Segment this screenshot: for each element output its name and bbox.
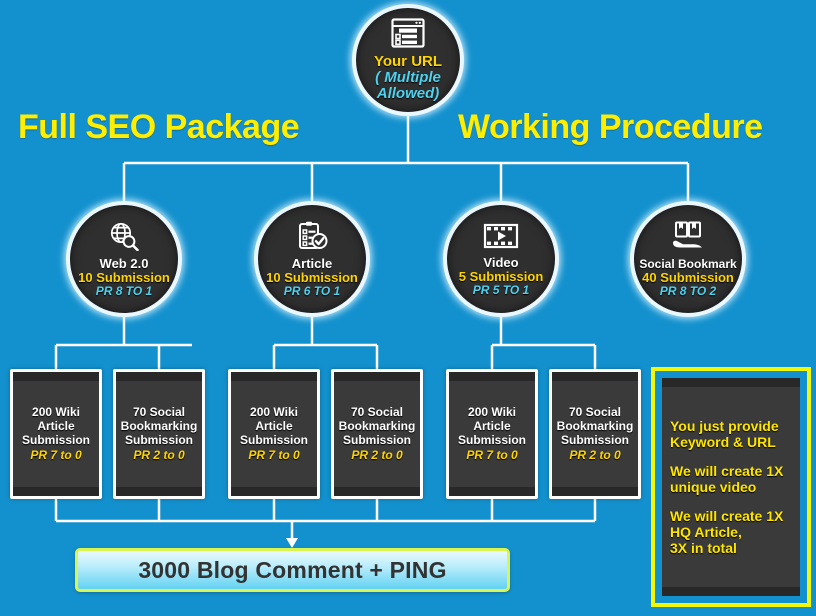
clipboard-check-icon xyxy=(295,221,329,256)
node-title: Video xyxy=(483,256,518,270)
info-line: We will create 1X xyxy=(670,508,792,524)
blog-comment-banner[interactable]: 3000 Blog Comment + PING xyxy=(75,548,510,592)
node-pr-range: PR 8 TO 2 xyxy=(660,285,716,298)
leaf-line: 70 Social xyxy=(133,405,185,419)
info-spacer xyxy=(670,450,792,463)
leaf-line: Submission xyxy=(240,433,308,447)
leaf-line: Bookmarking xyxy=(121,419,198,433)
node-social-bookmark[interactable]: Social Bookmark 40 Submission PR 8 TO 2 xyxy=(630,201,746,317)
leaf-line: Article xyxy=(473,419,510,433)
node-your-url[interactable]: Your URL ( Multiple Allowed) xyxy=(352,4,464,116)
info-line: We will create 1X xyxy=(670,463,792,479)
leaf-line: Submission xyxy=(561,433,629,447)
node-submissions: 40 Submission xyxy=(642,271,734,285)
leaf-box[interactable]: 70 Social Bookmarking Submission PR 2 to… xyxy=(549,369,641,499)
infographic-canvas: Full SEO Package Working Procedure Your … xyxy=(0,0,816,616)
leaf-line: Article xyxy=(37,419,74,433)
node-web-2-0[interactable]: Web 2.0 10 Submission PR 8 TO 1 xyxy=(66,201,182,317)
node-article[interactable]: Article 10 Submission PR 6 TO 1 xyxy=(254,201,370,317)
info-line: You just provide xyxy=(670,418,792,434)
node-submissions: 10 Submission xyxy=(78,271,170,285)
globe-search-icon xyxy=(107,221,141,256)
leaf-pr-range: PR 2 to 0 xyxy=(569,448,620,463)
node-title: Your URL xyxy=(374,54,442,70)
info-line: Keyword & URL xyxy=(670,434,792,450)
leaf-line: 200 Wiki xyxy=(32,405,80,419)
leaf-box[interactable]: 200 Wiki Article Submission PR 7 to 0 xyxy=(228,369,320,499)
info-line: HQ Article, xyxy=(670,524,792,540)
info-line: 3X in total xyxy=(670,540,792,556)
node-pr-range: PR 8 TO 1 xyxy=(96,285,152,298)
node-pr-range: PR 6 TO 1 xyxy=(284,285,340,298)
leaf-line: 70 Social xyxy=(351,405,403,419)
arrow-head-icon xyxy=(286,538,298,548)
banner-label: 3000 Blog Comment + PING xyxy=(138,557,446,584)
leaf-box[interactable]: 70 Social Bookmarking Submission PR 2 to… xyxy=(113,369,205,499)
node-submissions: 10 Submission xyxy=(266,271,358,285)
browser-window-icon xyxy=(391,18,425,53)
info-spacer xyxy=(670,495,792,508)
leaf-pr-range: PR 7 to 0 xyxy=(248,448,299,463)
leaf-pr-range: PR 2 to 0 xyxy=(133,448,184,463)
leaf-line: Submission xyxy=(22,433,90,447)
leaf-pr-range: PR 2 to 0 xyxy=(351,448,402,463)
node-title: Web 2.0 xyxy=(100,257,149,271)
node-video[interactable]: Video 5 Submission PR 5 TO 1 xyxy=(443,201,559,317)
leaf-pr-range: PR 7 to 0 xyxy=(30,448,81,463)
node-subtitle-line2: Allowed) xyxy=(377,86,440,102)
node-title: Article xyxy=(292,257,332,271)
leaf-line: Submission xyxy=(343,433,411,447)
leaf-line: Article xyxy=(255,419,292,433)
film-play-icon xyxy=(483,222,519,255)
leaf-line: 70 Social xyxy=(569,405,621,419)
node-title: Social Bookmark xyxy=(639,257,736,271)
leaf-line: 200 Wiki xyxy=(468,405,516,419)
node-pr-range: PR 5 TO 1 xyxy=(473,284,529,297)
headline-full-seo-package: Full SEO Package xyxy=(18,108,299,147)
leaf-line: 200 Wiki xyxy=(250,405,298,419)
leaf-box[interactable]: 200 Wiki Article Submission PR 7 to 0 xyxy=(446,369,538,499)
leaf-line: Submission xyxy=(125,433,193,447)
bookmark-hand-icon xyxy=(670,221,706,256)
node-subtitle-line1: ( Multiple xyxy=(375,70,441,86)
headline-working-procedure: Working Procedure xyxy=(458,108,763,147)
info-line: unique video xyxy=(670,479,792,495)
leaf-box[interactable]: 70 Social Bookmarking Submission PR 2 to… xyxy=(331,369,423,499)
leaf-box[interactable]: 200 Wiki Article Submission PR 7 to 0 xyxy=(10,369,102,499)
info-panel-body: You just provide Keyword & URL We will c… xyxy=(662,378,800,596)
info-panel: You just provide Keyword & URL We will c… xyxy=(651,367,811,607)
node-submissions: 5 Submission xyxy=(459,270,544,284)
leaf-line: Submission xyxy=(458,433,526,447)
leaf-line: Bookmarking xyxy=(557,419,634,433)
leaf-pr-range: PR 7 to 0 xyxy=(466,448,517,463)
leaf-line: Bookmarking xyxy=(339,419,416,433)
